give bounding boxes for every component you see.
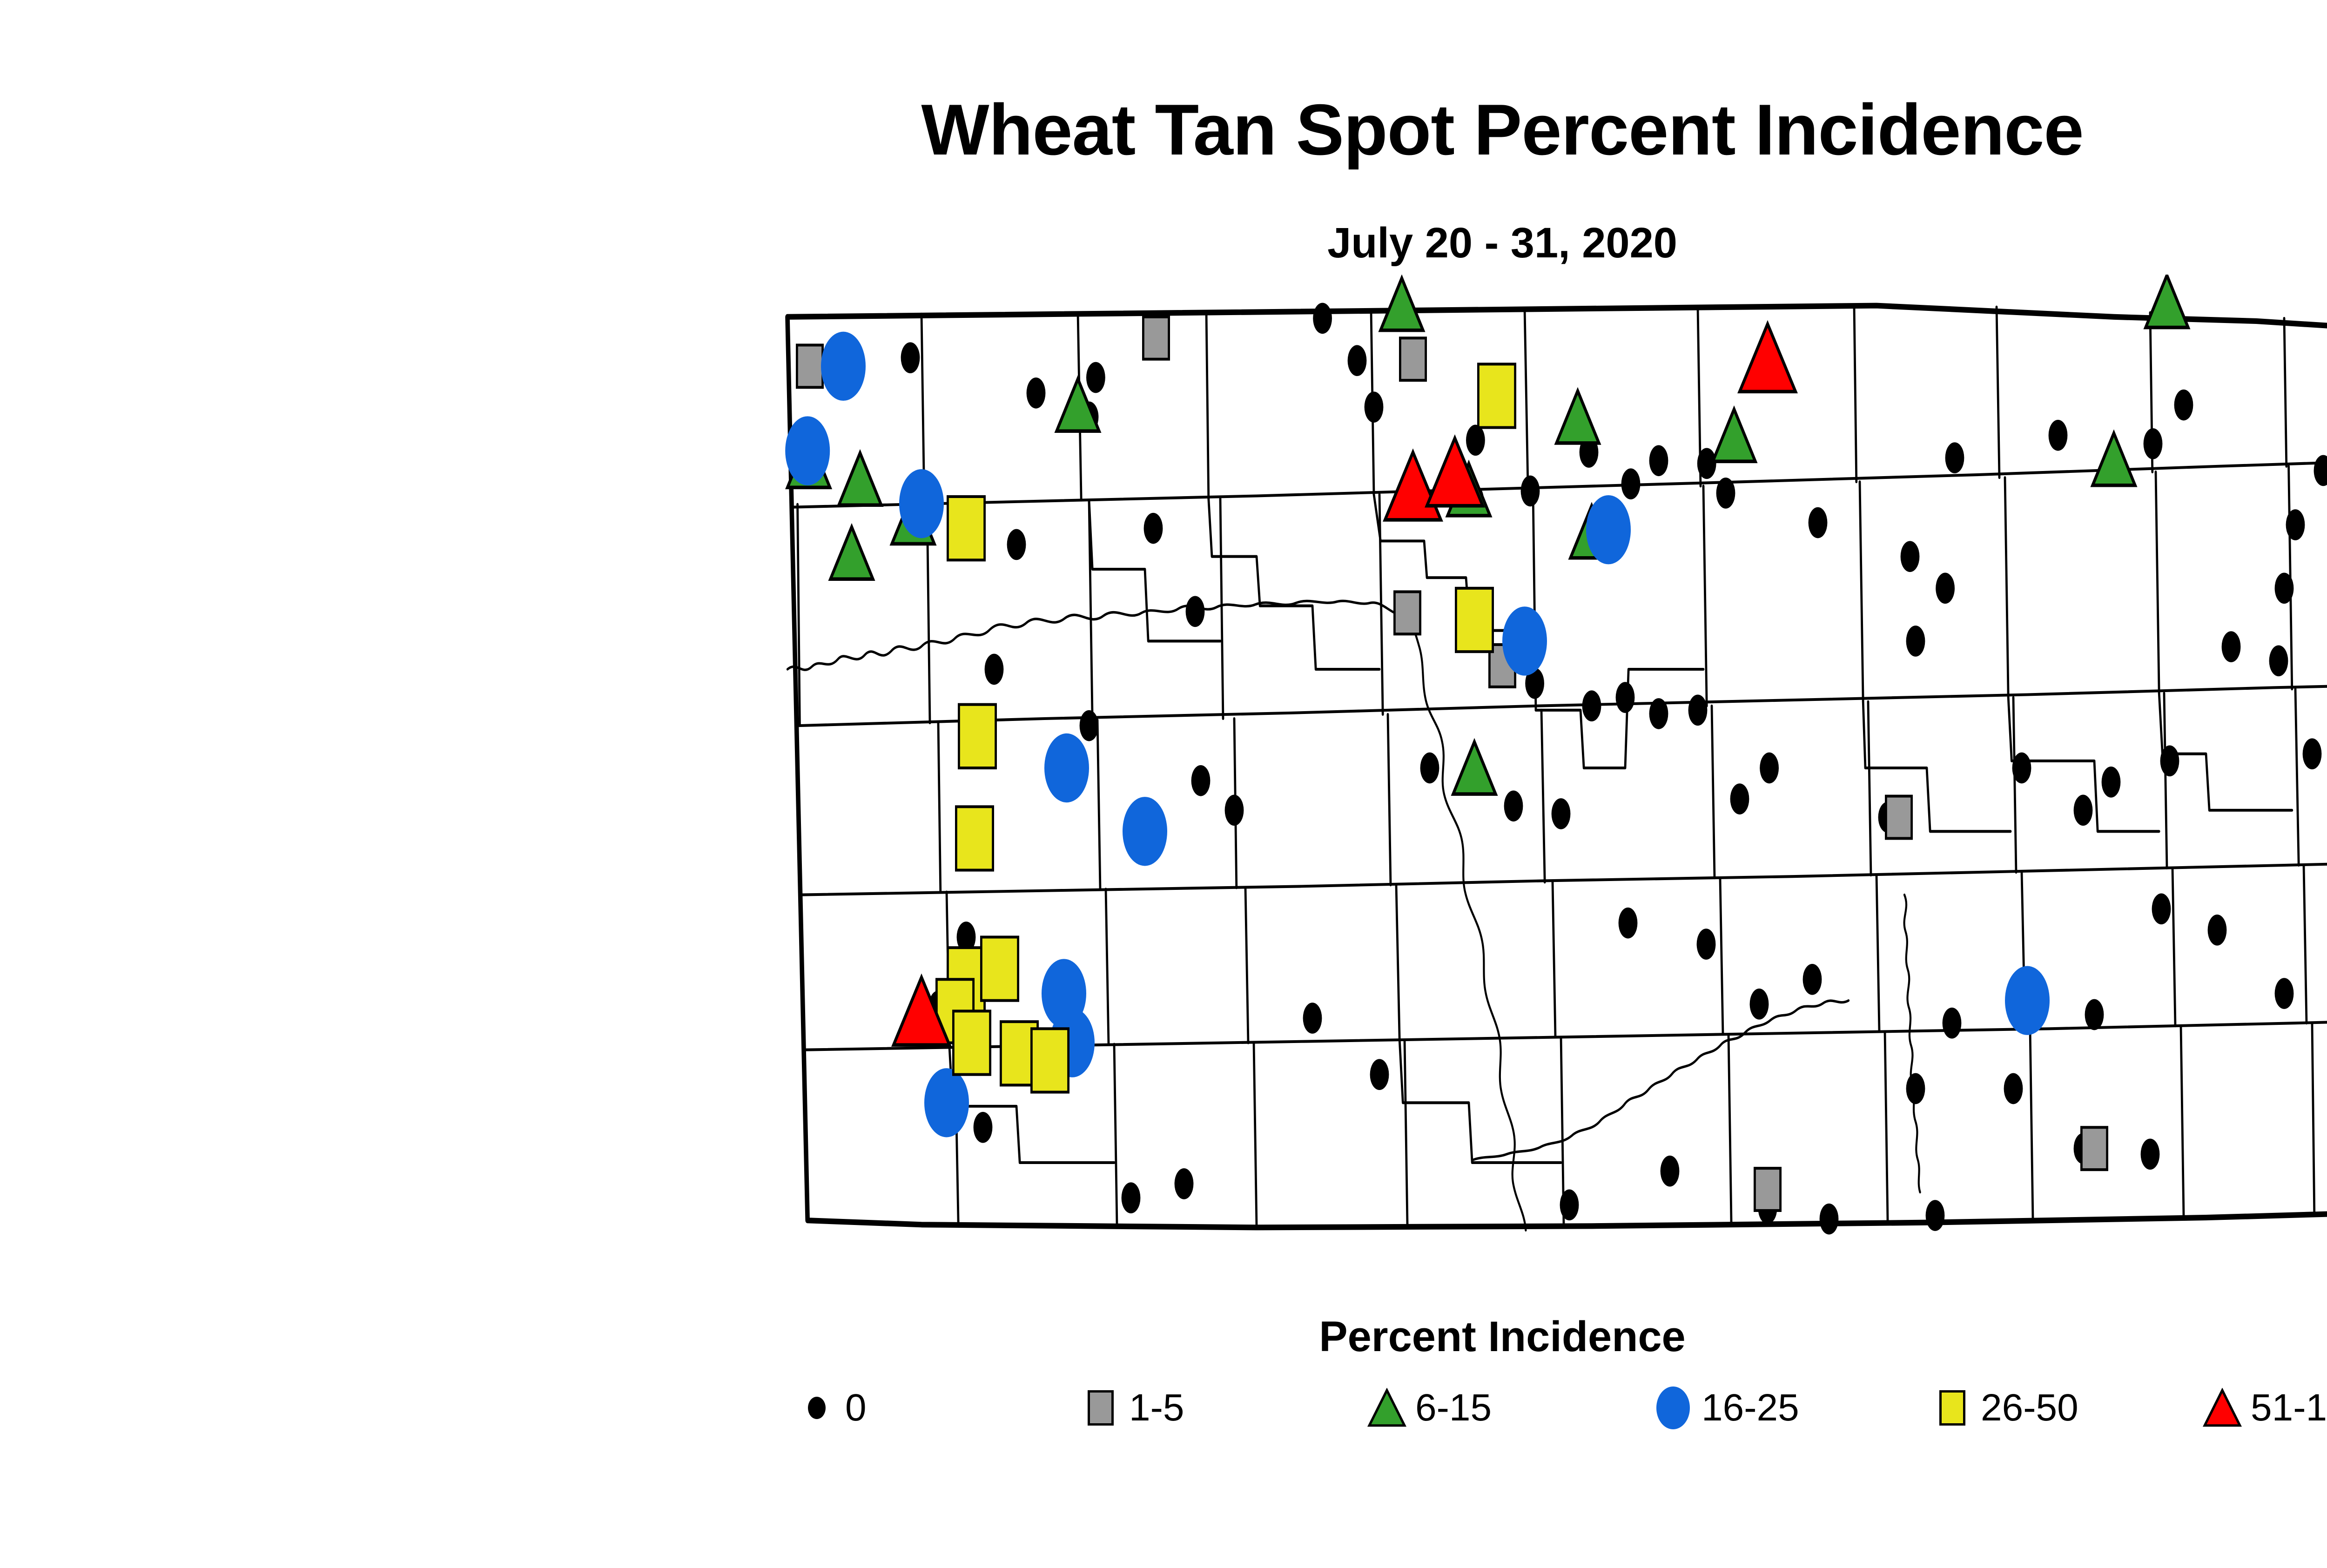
map-marker-0 bbox=[1820, 1204, 1839, 1235]
map-marker-0 bbox=[1649, 698, 1668, 729]
map-marker-0 bbox=[2208, 915, 2227, 946]
map-marker-26-50 bbox=[1031, 1029, 1068, 1092]
map-marker-16-25 bbox=[1586, 495, 1631, 564]
legend-label: 1-5 bbox=[1129, 1386, 1184, 1430]
map-marker-0 bbox=[1649, 445, 1668, 476]
map-marker-0 bbox=[1191, 765, 1211, 796]
map-marker-0 bbox=[1122, 1182, 1141, 1213]
river-sheyenne bbox=[1473, 1001, 1849, 1160]
map-marker-16-25 bbox=[1502, 606, 1547, 675]
map-marker-1-5 bbox=[1886, 796, 1911, 839]
map-marker-0 bbox=[2085, 999, 2104, 1030]
map-marker-0 bbox=[2012, 753, 2031, 784]
legend-item-6to15[interactable]: 6-15 bbox=[1361, 1378, 1492, 1438]
map-marker-1-5 bbox=[797, 345, 822, 387]
map-marker-16-25 bbox=[899, 469, 944, 538]
map-marker-0 bbox=[1697, 929, 1716, 960]
map-marker-51-100 bbox=[1385, 452, 1441, 520]
map-marker-0 bbox=[1521, 476, 1540, 507]
map-marker-26-50 bbox=[959, 705, 995, 768]
legend-item-26to50[interactable]: 26-50 bbox=[1927, 1378, 2078, 1438]
map-marker-0 bbox=[2160, 746, 2179, 777]
map-marker-0 bbox=[1348, 345, 1367, 376]
red-triangle-marker bbox=[2197, 1382, 2248, 1433]
map-marker-6-15 bbox=[2092, 433, 2135, 485]
map-marker-0 bbox=[2141, 1139, 2160, 1170]
map-marker-0 bbox=[1760, 753, 1779, 784]
map-marker-0 bbox=[1621, 468, 1641, 499]
map-marker-0 bbox=[2275, 573, 2294, 604]
map-marker-16-25 bbox=[1044, 734, 1089, 802]
map-marker-0 bbox=[1080, 710, 1099, 741]
map-marker-6-15 bbox=[1453, 742, 1495, 794]
map-marker-6-15 bbox=[839, 453, 881, 505]
map-marker-0 bbox=[1365, 391, 1384, 423]
map-marker-6-15 bbox=[2145, 276, 2188, 328]
map-marker-0 bbox=[1926, 1200, 1945, 1231]
legend-label: 6-15 bbox=[1415, 1386, 1492, 1430]
map-marker-51-100 bbox=[1740, 324, 1796, 391]
map-marker-0 bbox=[2102, 767, 2121, 798]
map-marker-0 bbox=[1175, 1168, 1194, 1199]
map-marker-0 bbox=[2144, 428, 2163, 459]
map-marker-0 bbox=[1144, 513, 1163, 544]
map-marker-0 bbox=[2269, 646, 2288, 677]
map-marker-0 bbox=[985, 654, 1004, 685]
map-marker-0 bbox=[1313, 303, 1332, 334]
map-marker-0 bbox=[2314, 455, 2327, 486]
data-markers bbox=[785, 276, 2327, 1235]
map-marker-26-50 bbox=[956, 807, 993, 870]
legend-label: 16-25 bbox=[1702, 1386, 1799, 1430]
map-marker-0 bbox=[1552, 798, 1571, 829]
legend: 01-56-1516-2526-5051-100 bbox=[791, 1378, 2327, 1447]
map-marker-26-50 bbox=[1456, 588, 1493, 652]
map-marker-0 bbox=[1716, 478, 1735, 509]
map-figure: Wheat Tan Spot Percent Incidence July 20… bbox=[0, 0, 2327, 1568]
map-marker-0 bbox=[1688, 695, 1708, 726]
legend-label: 26-50 bbox=[1981, 1386, 2078, 1430]
legend-item-16to25[interactable]: 16-25 bbox=[1648, 1378, 1799, 1438]
dot-marker bbox=[791, 1382, 842, 1433]
map-marker-0 bbox=[1945, 442, 1964, 473]
map-marker-0 bbox=[2286, 509, 2305, 540]
yellow-square-marker bbox=[1927, 1382, 1978, 1433]
page-subtitle: July 20 - 31, 2020 bbox=[0, 219, 2327, 268]
map-marker-0 bbox=[1420, 753, 1439, 784]
map-marker-0 bbox=[1936, 573, 1955, 604]
map-marker-0 bbox=[1504, 790, 1523, 821]
map-marker-6-15 bbox=[830, 527, 873, 579]
legend-label: 51-100 bbox=[2251, 1386, 2327, 1430]
map-marker-0 bbox=[1582, 690, 1601, 721]
map-marker-16-25 bbox=[2005, 966, 2050, 1035]
map-marker-26-50 bbox=[953, 1011, 990, 1074]
map-marker-0 bbox=[1906, 1073, 1925, 1104]
map-marker-0 bbox=[1225, 795, 1244, 826]
map-marker-1-5 bbox=[1400, 338, 1426, 380]
map-marker-0 bbox=[1086, 362, 1105, 393]
map-marker-6-15 bbox=[1380, 278, 1423, 330]
gray-square-marker bbox=[1075, 1382, 1126, 1433]
map-marker-1-5 bbox=[1143, 317, 1169, 359]
map-marker-0 bbox=[2049, 420, 2068, 451]
lake-sakakawea bbox=[787, 601, 1526, 1230]
map-marker-0 bbox=[1466, 425, 1485, 456]
map-marker-0 bbox=[1370, 1059, 1389, 1090]
map-marker-16-25 bbox=[1123, 797, 1167, 866]
map-marker-6-15 bbox=[1713, 409, 1755, 461]
map-marker-1-5 bbox=[1755, 1168, 1780, 1211]
map-marker-0 bbox=[1560, 1190, 1579, 1221]
north-dakota-map bbox=[754, 275, 2327, 1261]
map-marker-0 bbox=[1027, 377, 1046, 409]
map-marker-0 bbox=[2222, 631, 2241, 662]
legend-label: 0 bbox=[845, 1386, 867, 1430]
map-marker-0 bbox=[1697, 448, 1716, 479]
green-triangle-marker bbox=[1361, 1382, 1412, 1433]
map-marker-16-25 bbox=[821, 332, 866, 401]
map-marker-26-50 bbox=[981, 937, 1018, 1000]
map-marker-0 bbox=[2174, 390, 2193, 421]
map-marker-0 bbox=[1186, 596, 1205, 627]
map-marker-0 bbox=[1303, 1003, 1322, 1034]
map-marker-1-5 bbox=[2081, 1127, 2107, 1170]
map-marker-6-15 bbox=[1556, 391, 1599, 443]
map-marker-0 bbox=[1619, 908, 1638, 939]
map-marker-26-50 bbox=[1478, 364, 1515, 427]
map-marker-0 bbox=[1906, 626, 1925, 657]
map-marker-0 bbox=[2303, 738, 2322, 769]
map-marker-0 bbox=[974, 1112, 993, 1143]
map-marker-0 bbox=[1943, 1008, 1962, 1039]
map-marker-0 bbox=[2275, 978, 2294, 1009]
map-marker-0 bbox=[1809, 507, 1828, 538]
legend-item-0[interactable]: 0 bbox=[791, 1378, 867, 1438]
map-marker-16-25 bbox=[785, 416, 830, 485]
map-svg bbox=[754, 275, 2327, 1261]
river-james bbox=[1904, 895, 1920, 1192]
map-marker-16-25 bbox=[924, 1068, 969, 1137]
map-marker-0 bbox=[2004, 1073, 2023, 1104]
legend-title: Percent Incidence bbox=[0, 1312, 2327, 1361]
map-marker-1-5 bbox=[1394, 592, 1420, 634]
map-marker-0 bbox=[1750, 989, 1769, 1020]
map-marker-0 bbox=[1803, 964, 1822, 995]
page-title: Wheat Tan Spot Percent Incidence bbox=[0, 88, 2327, 171]
map-marker-0 bbox=[2152, 894, 2171, 925]
map-marker-0 bbox=[1616, 682, 1635, 713]
map-marker-0 bbox=[1661, 1156, 1680, 1187]
map-marker-0 bbox=[1007, 529, 1026, 560]
map-marker-0 bbox=[1730, 783, 1749, 814]
legend-item-51to100[interactable]: 51-100 bbox=[2197, 1378, 2327, 1438]
map-marker-0 bbox=[2074, 795, 2093, 826]
map-marker-0 bbox=[901, 342, 920, 373]
map-marker-26-50 bbox=[948, 497, 984, 560]
map-marker-0 bbox=[1901, 541, 1920, 572]
legend-item-1to5[interactable]: 1-5 bbox=[1075, 1378, 1184, 1438]
blue-circle-marker bbox=[1648, 1382, 1699, 1433]
